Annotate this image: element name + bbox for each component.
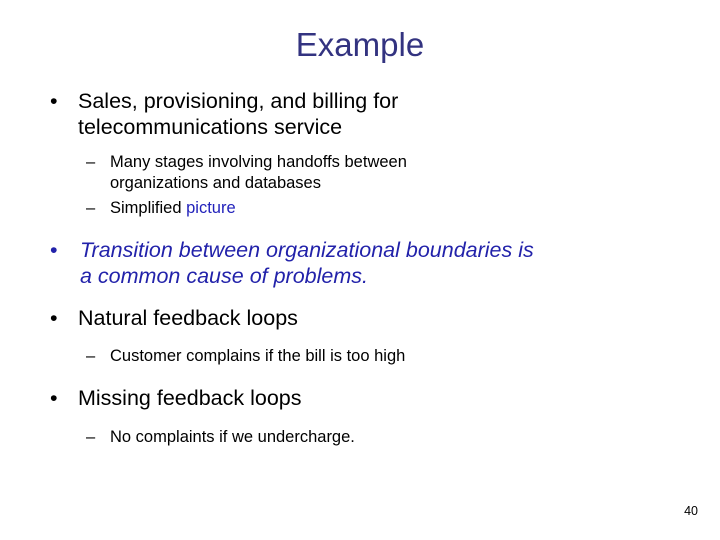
dash-icon: –	[86, 198, 95, 219]
slide-page-number: 40	[684, 504, 698, 518]
bullet-dot-icon: •	[50, 88, 58, 114]
bullet-line: Transition between organizational bounda…	[80, 237, 694, 263]
bullet-item-transition: • Transition between organizational boun…	[0, 237, 720, 289]
bullet-line: Sales, provisioning, and billing for	[78, 88, 694, 114]
dash-icon: –	[86, 427, 95, 448]
sub-bullet-item-many-stages: – Many stages involving handoffs between…	[0, 152, 720, 194]
bullet-item-missing-feedback-loops: • Missing feedback loops	[0, 385, 720, 411]
dash-icon: –	[86, 346, 95, 367]
bullet-dot-icon: •	[50, 385, 58, 411]
page-title: Example	[0, 26, 720, 64]
bullet-item-natural-feedback-loops: • Natural feedback loops	[0, 305, 720, 331]
sub-bullet-prefix: Simplified	[110, 199, 186, 217]
bullet-item-sales: • Sales, provisioning, and billing for t…	[0, 88, 720, 140]
slide-body: • Sales, provisioning, and billing for t…	[0, 88, 720, 448]
sub-bullet-line: organizations and databases	[110, 173, 694, 194]
sub-bullet-line: No complaints if we undercharge.	[110, 427, 694, 448]
slide-canvas: Example • Sales, provisioning, and billi…	[0, 0, 720, 540]
dash-icon: –	[86, 152, 95, 173]
bullet-dot-icon: •	[50, 305, 58, 331]
sub-bullet-item-no-complaints: – No complaints if we undercharge.	[0, 427, 720, 448]
bullet-line: a common cause of problems.	[80, 263, 694, 289]
sub-bullet-line: Simplified picture	[110, 198, 694, 219]
sub-bullet-item-customer-complains: – Customer complains if the bill is too …	[0, 346, 720, 367]
bullet-line: Missing feedback loops	[78, 385, 694, 411]
sub-bullet-line: Customer complains if the bill is too hi…	[110, 346, 694, 367]
sub-bullet-line: Many stages involving handoffs between	[110, 152, 694, 173]
sub-bullet-item-simplified-picture: – Simplified picture	[0, 198, 720, 219]
bullet-line: telecommunications service	[78, 114, 694, 140]
bullet-dot-icon: •	[50, 237, 58, 263]
bullet-line: Natural feedback loops	[78, 305, 694, 331]
picture-link[interactable]: picture	[186, 199, 236, 217]
